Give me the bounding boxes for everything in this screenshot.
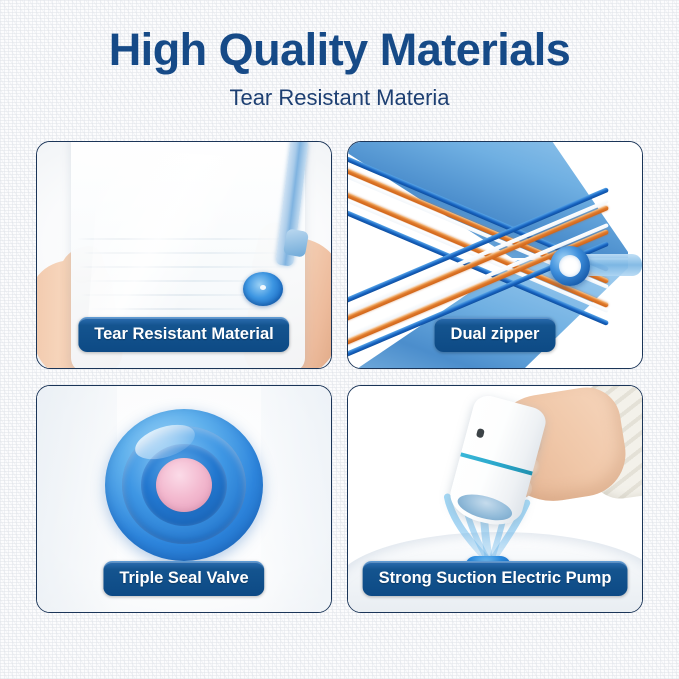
- valve-pink-seal: [156, 458, 212, 512]
- infographic-root: High Quality Materials Tear Resistant Ma…: [0, 0, 679, 679]
- zipper-slider: [550, 246, 590, 286]
- feature-panel-strong-suction-electric-pump[interactable]: Strong Suction Electric Pump: [347, 385, 643, 613]
- panel-caption: Tear Resistant Material: [78, 317, 289, 352]
- feature-panel-dual-zipper[interactable]: Dual zipper: [347, 141, 643, 369]
- page-subtitle: Tear Resistant Materia: [0, 84, 679, 112]
- pump-cyan-band: [460, 452, 533, 475]
- pump-power-button: [476, 428, 485, 439]
- zipper-slider-illustration: [283, 228, 309, 257]
- feature-panel-tear-resistant-material[interactable]: Tear Resistant Material: [36, 141, 332, 369]
- page-title: High Quality Materials: [0, 24, 679, 76]
- panel-caption: Dual zipper: [435, 317, 556, 352]
- panel-caption: Triple Seal Valve: [103, 561, 264, 596]
- panel-caption: Strong Suction Electric Pump: [363, 561, 628, 596]
- feature-panel-triple-seal-valve[interactable]: Triple Seal Valve: [36, 385, 332, 613]
- bag-valve-illustration: [243, 272, 283, 306]
